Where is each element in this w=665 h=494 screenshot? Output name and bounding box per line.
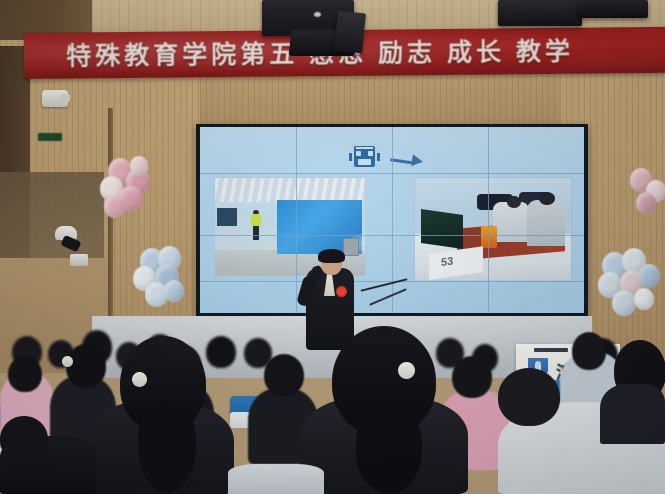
robot-face-icon bbox=[352, 144, 377, 169]
slide-photo-right bbox=[414, 177, 572, 281]
exit-sign bbox=[38, 133, 62, 141]
wall-speaker bbox=[42, 90, 68, 107]
projector-indicator-icon bbox=[314, 12, 321, 17]
arrow-right-icon bbox=[390, 154, 424, 166]
slide-photo-right-head-2 bbox=[539, 192, 555, 205]
signboard-bar bbox=[534, 348, 568, 352]
ceiling-speaker-right bbox=[498, 0, 582, 26]
slide-photo-left-ceiling bbox=[215, 178, 365, 202]
slide-photo-right-person-2 bbox=[527, 200, 565, 246]
slide-photo-right-monitor bbox=[421, 209, 463, 249]
auditorium-photo: 特殊教育学院第五 感恩 励志 成长 教学 bbox=[0, 0, 665, 494]
slide-photo-left-person bbox=[251, 210, 261, 240]
video-wall bbox=[200, 127, 584, 313]
projector-mount-arm bbox=[334, 11, 366, 54]
ceiling-speaker-far-right bbox=[578, 0, 648, 18]
slide-photo-left-panel bbox=[217, 208, 237, 226]
slide-photo-left bbox=[214, 177, 366, 277]
slide-photo-right-object bbox=[481, 226, 497, 248]
presenter-flower-badge bbox=[336, 286, 347, 297]
wall-left-panel-upper bbox=[0, 172, 104, 262]
security-camera-mount bbox=[70, 254, 88, 266]
slide-photo-left-equipment bbox=[343, 238, 359, 256]
presenter-hair bbox=[318, 249, 345, 263]
slide-photo-right-person-1 bbox=[493, 202, 529, 242]
slide-photo-right-head-1 bbox=[507, 196, 521, 208]
